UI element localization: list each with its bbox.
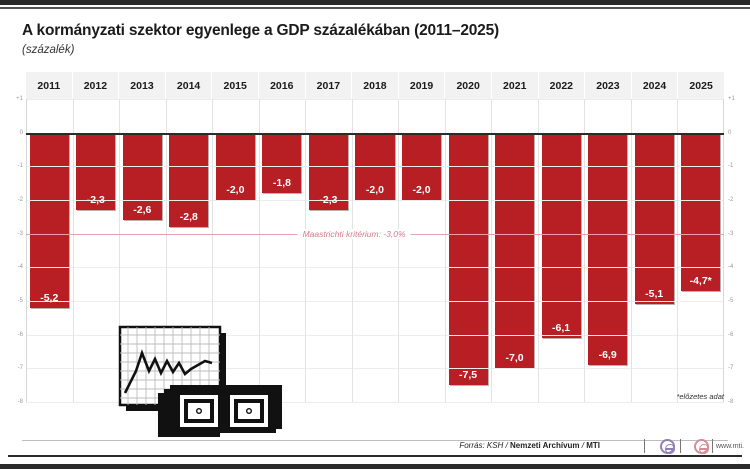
top-border-band-2	[0, 7, 750, 9]
year-header-2012: 2012	[73, 72, 120, 99]
year-header-2021: 2021	[492, 72, 539, 99]
footer-separator-3	[712, 439, 713, 453]
mti-logo-bar	[700, 448, 707, 450]
column-divider-9	[445, 99, 446, 402]
website-url: www.mti.	[716, 443, 744, 450]
y-axis-tick-left--3: -3	[13, 231, 23, 237]
column-divider-7	[352, 99, 353, 402]
maastricht-reference-label: Maastrichti kritérium: -3,0%	[298, 229, 411, 239]
bar-column-2021: -7,0	[491, 99, 538, 402]
archive-logo-bar	[666, 448, 673, 450]
bar-value-label-2014: -2,8	[169, 211, 208, 223]
source-prefix: Forrás: KSH /	[459, 441, 507, 450]
y-axis-tick-right--1: -1	[728, 163, 738, 169]
bar-value-label-2020: -7,5	[449, 369, 488, 381]
mti-logo-icon	[694, 439, 709, 454]
bar-2012: -2,3	[76, 133, 115, 210]
y-axis-tick-right-0: 0	[728, 130, 738, 136]
source-credit: Forrás: KSH / Nemzeti Archívum / MTI	[459, 441, 600, 450]
bar-value-label-2022: -6,1	[542, 322, 581, 334]
preliminary-data-footnote: *előzetes adat	[676, 392, 724, 401]
bar-value-label-2021: -7,0	[495, 352, 534, 364]
bar-column-2019: -2,0	[398, 99, 445, 402]
gridline--5	[26, 301, 724, 302]
y-axis-tick-right--6: -6	[728, 332, 738, 338]
bar-column-2020: -7,5	[445, 99, 492, 402]
axis-line-right	[723, 99, 724, 402]
footer-separator-1	[644, 439, 645, 453]
bar-2013: -2,6	[123, 133, 162, 221]
y-axis-tick-left--4: -4	[13, 264, 23, 270]
archive-logo-icon	[660, 439, 675, 454]
year-header-2016: 2016	[259, 72, 306, 99]
bar-2024: -5,1	[635, 133, 674, 305]
footer-separator-2	[680, 439, 681, 453]
year-header-2023: 2023	[585, 72, 632, 99]
bar-value-label-2015: -2,0	[216, 184, 255, 196]
column-divider-6	[305, 99, 306, 402]
bar-value-label-2024: -5,1	[635, 288, 674, 300]
year-header-2013: 2013	[119, 72, 166, 99]
year-header-2011: 2011	[26, 72, 73, 99]
bar-value-label-2018: -2,0	[355, 184, 394, 196]
bar-2014: -2,8	[169, 133, 208, 227]
year-header-2025: 2025	[678, 72, 724, 99]
bar-column-2011: -5,2	[26, 99, 73, 402]
footer-bottom-rule	[8, 455, 742, 457]
zero-axis-line	[26, 133, 724, 135]
y-axis-tick-left--2: -2	[13, 197, 23, 203]
page-title: A kormányzati szektor egyenlege a GDP sz…	[22, 22, 499, 40]
bar-2023: -6,9	[588, 133, 627, 365]
y-axis-tick-right-1: +1	[728, 96, 738, 102]
source-archive: Nemzeti Archívum	[510, 441, 580, 450]
y-axis-tick-right--5: -5	[728, 298, 738, 304]
bar-2016: -1,8	[262, 133, 301, 194]
bar-2021: -7,0	[495, 133, 534, 369]
page-subtitle: (százalék)	[22, 44, 74, 56]
bar-column-2024: -5,1	[631, 99, 678, 402]
y-axis-tick-left--6: -6	[13, 332, 23, 338]
bar-value-label-2013: -2,6	[123, 204, 162, 216]
gridline-1	[26, 99, 724, 100]
column-divider-10	[491, 99, 492, 402]
year-header-row: 2011201220132014201520162017201820192020…	[26, 72, 724, 99]
year-header-2018: 2018	[352, 72, 399, 99]
bar-column-2017: -2,3	[305, 99, 352, 402]
y-axis-tick-left--1: -1	[13, 163, 23, 169]
bar-value-label-2019: -2,0	[402, 184, 441, 196]
chart-page: A kormányzati szektor egyenlege a GDP sz…	[0, 0, 750, 469]
bar-value-label-2016: -1,8	[262, 177, 301, 189]
y-axis-tick-left-1: +1	[13, 96, 23, 102]
bar-2022: -6,1	[542, 133, 581, 338]
y-axis-tick-right--8: -8	[728, 399, 738, 405]
y-axis-tick-left--8: -8	[13, 399, 23, 405]
y-axis-tick-right--3: -3	[728, 231, 738, 237]
bottom-border-band	[0, 464, 750, 469]
bar-column-2023: -6,9	[584, 99, 631, 402]
bar-2011: -5,2	[30, 133, 69, 308]
column-divider-8	[398, 99, 399, 402]
bar-value-label-2025: -4,7*	[681, 275, 720, 287]
bar-column-2018: -2,0	[352, 99, 399, 402]
y-axis-tick-right--4: -4	[728, 264, 738, 270]
year-header-2020: 2020	[445, 72, 492, 99]
year-header-2014: 2014	[166, 72, 213, 99]
source-slash: /	[582, 441, 584, 450]
bar-column-2022: -6,1	[538, 99, 585, 402]
y-axis-tick-left-0: 0	[13, 130, 23, 136]
bar-value-label-2023: -6,9	[588, 349, 627, 361]
bar-column-2025: -4,7*	[677, 99, 724, 402]
column-divider-11	[538, 99, 539, 402]
axis-line-left	[26, 99, 27, 402]
column-divider-13	[631, 99, 632, 402]
column-divider-14	[677, 99, 678, 402]
gridline--2	[26, 200, 724, 201]
gridline--1	[26, 166, 724, 167]
footer-divider	[22, 440, 728, 441]
year-header-2024: 2024	[632, 72, 679, 99]
year-header-2015: 2015	[212, 72, 259, 99]
column-divider-1	[73, 99, 74, 402]
source-mti: MTI	[586, 441, 600, 450]
bar-2017: -2,3	[309, 133, 348, 210]
bar-2020: -7,5	[449, 133, 488, 386]
column-divider-12	[584, 99, 585, 402]
year-header-2017: 2017	[306, 72, 353, 99]
chart-and-money-illustration	[92, 315, 282, 445]
year-header-2022: 2022	[539, 72, 586, 99]
y-axis-tick-left--7: -7	[13, 365, 23, 371]
year-header-2019: 2019	[399, 72, 446, 99]
gridline--4	[26, 267, 724, 268]
y-axis-tick-right--2: -2	[728, 197, 738, 203]
y-axis-tick-left--5: -5	[13, 298, 23, 304]
y-axis-tick-right--7: -7	[728, 365, 738, 371]
